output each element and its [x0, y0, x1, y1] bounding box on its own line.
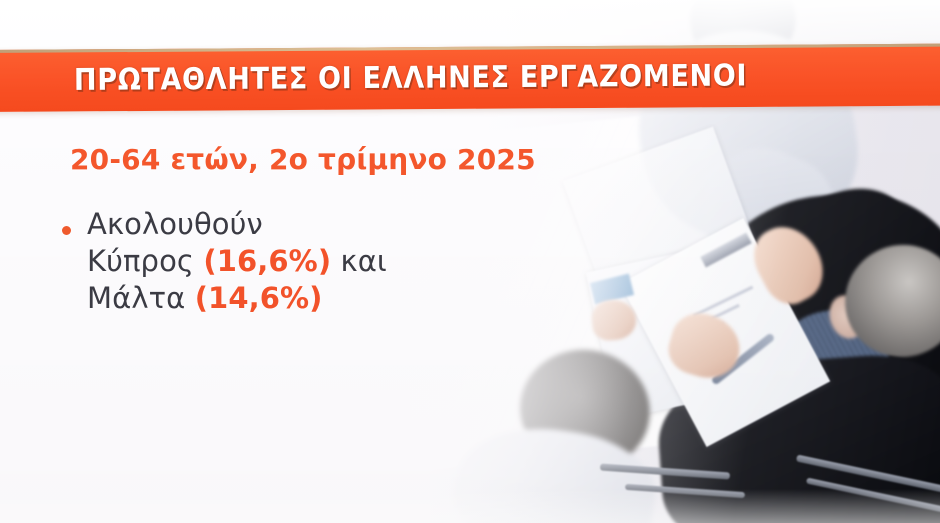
bottom-wash: [0, 489, 940, 523]
bullet-line-1: Ακολουθούν: [87, 210, 263, 239]
bullet-row: Ακολουθούν: [62, 210, 582, 239]
malta-percentage: (14,6%): [195, 281, 323, 315]
line-2-prefix: Κύπρος: [87, 244, 203, 278]
headline-text: ΠΡΩΤΑΘΛΗΤΕΣ ΟΙ ΕΛΛΗΝΕΣ ΕΡΓΑΖΟΜΕΝΟΙ: [74, 58, 747, 97]
bullet-line-2: Κύπρος (16,6%) και: [87, 244, 387, 278]
bullet-row: Μάλτα (14,6%): [62, 284, 582, 313]
cyprus-percentage: (16,6%): [203, 244, 331, 278]
bullet-line-3: Μάλτα (14,6%): [87, 281, 323, 315]
caption-body: Ακολουθούν Κύπρος (16,6%) και Μάλτα (14,…: [62, 210, 582, 321]
bullet-dot-icon: [62, 226, 71, 235]
subtitle-text: 20-64 ετών, 2ο τρίμηνο 2025: [70, 143, 536, 176]
bullet-row: Κύπρος (16,6%) και: [62, 247, 582, 276]
line-2-suffix: και: [331, 244, 387, 278]
broadcast-graphic-screen: ΠΡΩΤΑΘΛΗΤΕΣ ΟΙ ΕΛΛΗΝΕΣ ΕΡΓΑΖΟΜΕΝΟΙ 20-64…: [0, 0, 940, 523]
line-3-prefix: Μάλτα: [87, 281, 195, 315]
headline-banner: ΠΡΩΤΑΘΛΗΤΕΣ ΟΙ ΕΛΛΗΝΕΣ ΕΡΓΑΖΟΜΕΝΟΙ: [0, 44, 940, 112]
